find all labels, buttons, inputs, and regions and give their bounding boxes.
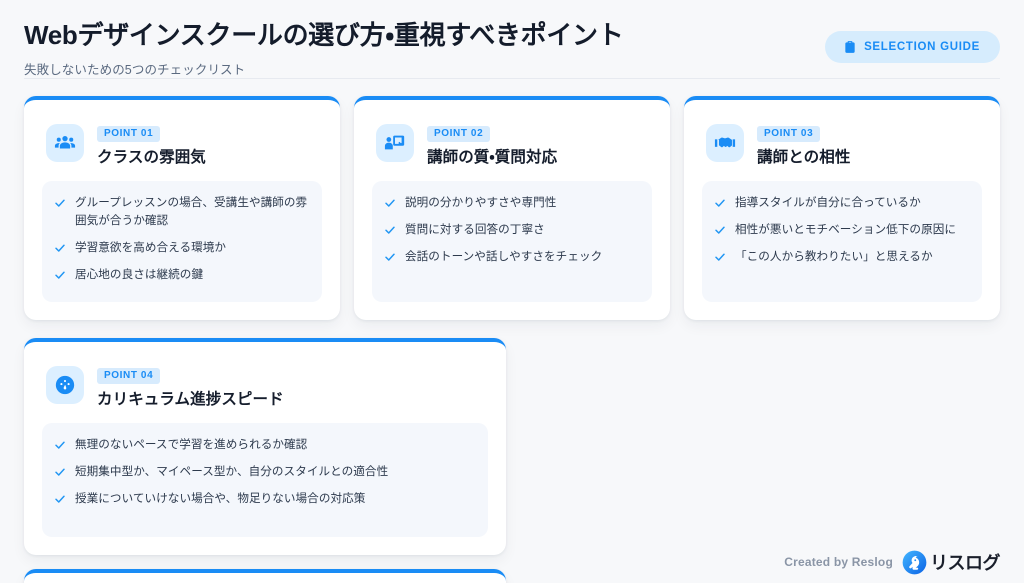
list-item: 相性が悪いとモチベーション低下の原因に (714, 221, 968, 239)
point-badge: POINT 01 (97, 126, 160, 142)
infographic-page: Webデザインスクールの選び方・重視すべきポイント 失敗しないための5つのチェッ… (0, 0, 1024, 583)
list-item-text: 会話のトーンや話しやすさをチェック (405, 248, 602, 266)
card-icon-wrap (46, 124, 84, 162)
point-card-04[interactable]: POINT 04 カリキュラム進捗スピード 無理のないペースで学習を進められるか… (24, 338, 506, 555)
list-item: 居心地の良さは継続の鍵 (54, 266, 308, 284)
card-header-text: POINT 01 クラスの雰囲気 (97, 122, 206, 167)
check-icon (384, 197, 396, 209)
check-icon (54, 269, 66, 281)
card-header-text: POINT 03 講師との相性 (757, 122, 850, 167)
page-header: Webデザインスクールの選び方・重視すべきポイント 失敗しないための5つのチェッ… (24, 16, 1000, 78)
checklist: 無理のないペースで学習を進められるか確認 短期集中型か、マイペース型か、自分のス… (42, 423, 488, 537)
users-group-icon (54, 132, 76, 154)
point-card-03[interactable]: POINT 03 講師との相性 指導スタイルが自分に合っているか 相性が悪いとモ… (684, 96, 1000, 320)
point-badge: POINT 02 (427, 126, 490, 142)
chalkboard-teacher-icon (384, 132, 406, 154)
check-icon (54, 466, 66, 478)
list-item-text: 短期集中型か、マイペース型か、自分のスタイルとの適合性 (75, 463, 388, 481)
list-item: 説明の分かりやすさや専門性 (384, 194, 638, 212)
list-item: 指導スタイルが自分に合っているか (714, 194, 968, 212)
card-header: POINT 02 講師の質・質問対応 (372, 116, 652, 167)
check-icon (714, 224, 726, 236)
check-icon (384, 224, 396, 236)
clipboard-check-icon (843, 40, 857, 54)
list-item-text: 相性が悪いとモチベーション低下の原因に (735, 221, 956, 239)
squirrel-logo-icon (902, 550, 927, 575)
card-header-text: POINT 02 講師の質・質問対応 (427, 122, 557, 167)
list-item-text: 「この人から教わりたい」と思えるか (735, 248, 933, 266)
card-title: クラスの雰囲気 (97, 148, 206, 167)
check-icon (714, 197, 726, 209)
points-row-top: POINT 01 クラスの雰囲気 グループレッスンの場合、受講生や講師の雰囲気が… (24, 96, 1000, 320)
list-item-text: 説明の分かりやすさや専門性 (405, 194, 556, 212)
list-item: 「この人から教わりたい」と思えるか (714, 248, 968, 266)
list-item: 学習意欲を高め合える環境か (54, 239, 308, 257)
list-item-text: 質問に対する回答の丁寧さ (405, 221, 545, 239)
check-icon (384, 251, 396, 263)
card-icon-wrap (46, 366, 84, 404)
point-card-02[interactable]: POINT 02 講師の質・質問対応 説明の分かりやすさや専門性 質問に対する回… (354, 96, 670, 320)
list-item: 会話のトーンや話しやすさをチェック (384, 248, 638, 266)
check-icon (54, 493, 66, 505)
brand-lockup: リスログ (902, 549, 1000, 575)
card-title: 講師との相性 (757, 148, 850, 167)
card-header: POINT 03 講師との相性 (702, 116, 982, 167)
point-badge: POINT 04 (97, 368, 160, 384)
handshake-icon (714, 132, 736, 154)
point-card-05[interactable]: POINT 05 通学・サポート時間 通学型の場合は自宅や職場からのアクセスの良… (24, 569, 506, 583)
list-item: 質問に対する回答の丁寧さ (384, 221, 638, 239)
list-item: 授業についていけない場合や、物足りない場合の対応策 (54, 490, 474, 508)
checklist: 説明の分かりやすさや専門性 質問に対する回答の丁寧さ 会話のトーンや話しやすさを… (372, 181, 652, 302)
card-header: POINT 01 クラスの雰囲気 (42, 116, 322, 167)
list-item-text: 指導スタイルが自分に合っているか (735, 194, 921, 212)
card-header-text: POINT 04 カリキュラム進捗スピード (97, 364, 284, 409)
check-icon (54, 242, 66, 254)
selection-guide-label: SELECTION GUIDE (864, 41, 980, 53)
list-item: 無理のないペースで学習を進められるか確認 (54, 436, 474, 454)
list-item-text: 授業についていけない場合や、物足りない場合の対応策 (75, 490, 365, 508)
footer-credit-bar: Created by Reslog リスログ (784, 549, 1000, 575)
card-title: カリキュラム進捗スピード (97, 390, 284, 409)
check-icon (714, 251, 726, 263)
card-icon-wrap (706, 124, 744, 162)
point-badge: POINT 03 (757, 126, 820, 142)
list-item: グループレッスンの場合、受講生や講師の雰囲気が合うか確認 (54, 194, 308, 230)
list-item: 短期集中型か、マイペース型か、自分のスタイルとの適合性 (54, 463, 474, 481)
point-card-01[interactable]: POINT 01 クラスの雰囲気 グループレッスンの場合、受講生や講師の雰囲気が… (24, 96, 340, 320)
card-title: 講師の質・質問対応 (427, 148, 557, 167)
gauge-icon (54, 374, 76, 396)
list-item-text: 居心地の良さは継続の鍵 (75, 266, 203, 284)
check-icon (54, 439, 66, 451)
list-item-text: グループレッスンの場合、受講生や講師の雰囲気が合うか確認 (75, 194, 308, 230)
checklist: グループレッスンの場合、受講生や講師の雰囲気が合うか確認 学習意欲を高め合える環… (42, 181, 322, 302)
card-header: POINT 04 カリキュラム進捗スピード (42, 358, 488, 409)
selection-guide-badge[interactable]: SELECTION GUIDE (825, 31, 1000, 63)
points-row-bottom: POINT 04 カリキュラム進捗スピード 無理のないペースで学習を進められるか… (24, 338, 1000, 583)
list-item-text: 学習意欲を高め合える環境か (75, 239, 226, 257)
header-divider (24, 78, 1000, 79)
credit-text: Created by Reslog (784, 555, 893, 569)
check-icon (54, 197, 66, 209)
card-icon-wrap (376, 124, 414, 162)
brand-name: リスログ (930, 549, 1000, 575)
checklist: 指導スタイルが自分に合っているか 相性が悪いとモチベーション低下の原因に 「この… (702, 181, 982, 302)
list-item-text: 無理のないペースで学習を進められるか確認 (75, 436, 307, 454)
